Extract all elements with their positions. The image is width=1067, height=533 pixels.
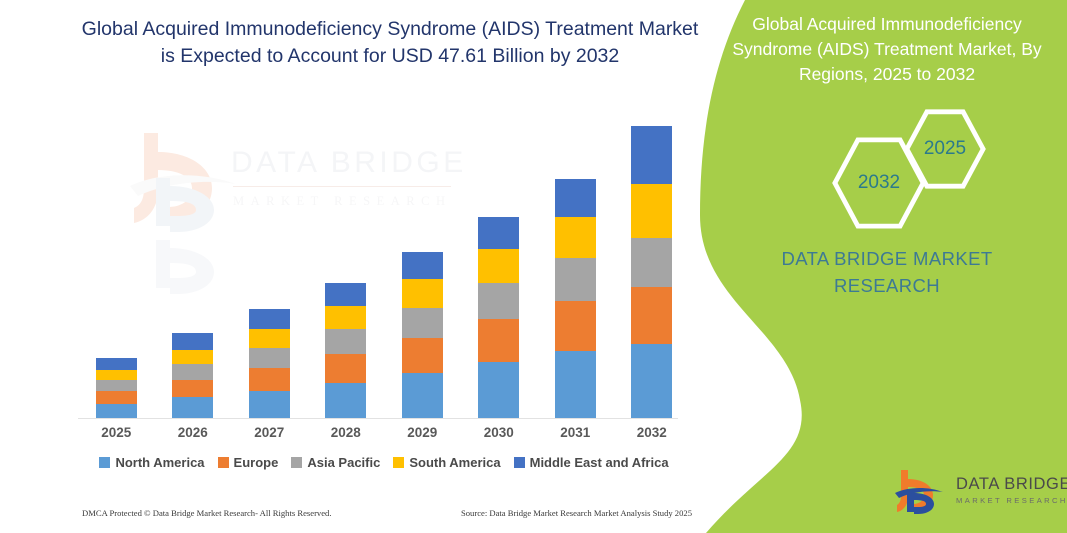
bar-segment	[249, 348, 290, 368]
logo-title: DATA BRIDGE	[956, 475, 1067, 494]
legend-swatch-icon	[99, 457, 110, 468]
legend-item[interactable]: North America	[99, 455, 204, 470]
legend-label: North America	[115, 455, 204, 470]
bar-segment	[402, 308, 443, 338]
bar-segment	[172, 333, 213, 350]
data-bridge-logo-text: DATA BRIDGE MARKET RESEARCH	[956, 475, 1067, 505]
data-bridge-logo: DATA BRIDGE MARKET RESEARCH	[893, 466, 1053, 516]
bar-segment	[96, 358, 137, 370]
bar-column-2031	[555, 179, 596, 418]
hexagon-group: 2032 2025	[817, 108, 1007, 223]
legend-swatch-icon	[514, 457, 525, 468]
bar-segment	[172, 397, 213, 418]
x-axis-label-2031: 2031	[540, 425, 610, 440]
legend-item[interactable]: Europe	[218, 455, 279, 470]
bar-segment	[478, 319, 519, 362]
bar-segment	[631, 287, 672, 344]
bar-column-2030	[478, 217, 519, 418]
bar-segment	[555, 351, 596, 418]
legend-label: Middle East and Africa	[530, 455, 669, 470]
bar-segment	[325, 283, 366, 306]
bar-segment	[249, 329, 290, 348]
bar-segment	[555, 258, 596, 301]
x-axis-label-2025: 2025	[81, 425, 151, 440]
logo-subtitle: MARKET RESEARCH	[956, 496, 1067, 505]
green-panel-content: Global Acquired Immunodeficiency Syndrom…	[707, 0, 1067, 533]
legend-item[interactable]: Asia Pacific	[291, 455, 380, 470]
footer-copyright: DMCA Protected © Data Bridge Market Rese…	[82, 508, 332, 518]
footer: DMCA Protected © Data Bridge Market Rese…	[82, 508, 692, 518]
legend-label: Europe	[234, 455, 279, 470]
bar-column-2032	[631, 126, 672, 418]
x-axis-label-2027: 2027	[234, 425, 304, 440]
x-axis-labels: 20252026202720282029203020312032	[78, 425, 690, 447]
plot-area	[78, 120, 690, 418]
bar-segment	[402, 252, 443, 279]
legend-item[interactable]: South America	[393, 455, 500, 470]
bar-segment	[402, 338, 443, 373]
footer-source: Source: Data Bridge Market Research Mark…	[461, 508, 692, 518]
bar-segment	[402, 373, 443, 418]
legend-swatch-icon	[218, 457, 229, 468]
bar-segment	[325, 306, 366, 329]
bar-segment	[478, 362, 519, 418]
legend-swatch-icon	[291, 457, 302, 468]
bar-segment	[478, 249, 519, 283]
bar-column-2026	[172, 333, 213, 418]
bar-column-2029	[402, 252, 443, 418]
infographic-root: Global Acquired Immunodeficiency Syndrom…	[0, 0, 1067, 533]
page-title: Global Acquired Immunodeficiency Syndrom…	[80, 16, 700, 70]
bar-segment	[555, 217, 596, 257]
bar-segment	[478, 283, 519, 319]
bar-segment	[249, 391, 290, 418]
bar-segment	[555, 179, 596, 217]
hexagon-2025: 2025	[903, 108, 987, 190]
legend-item[interactable]: Middle East and Africa	[514, 455, 669, 470]
bar-segment	[631, 184, 672, 238]
bar-segment	[325, 354, 366, 383]
legend-swatch-icon	[393, 457, 404, 468]
bar-segment	[172, 364, 213, 379]
bar-segment	[631, 238, 672, 287]
bar-segment	[325, 383, 366, 418]
x-axis-label-2029: 2029	[387, 425, 457, 440]
panel-title: Global Acquired Immunodeficiency Syndrom…	[727, 12, 1047, 87]
bar-segment	[96, 391, 137, 403]
bar-segment	[325, 329, 366, 354]
bar-column-2028	[325, 283, 366, 418]
chart-container: DATA BRIDGE MARKET RESEARCH 202520262027…	[78, 120, 690, 425]
bar-segment	[172, 350, 213, 365]
data-bridge-logo-mark-icon	[893, 467, 949, 515]
bar-segment	[249, 368, 290, 391]
bar-segment	[631, 126, 672, 184]
bar-segment	[249, 309, 290, 328]
bar-segment	[631, 344, 672, 418]
x-axis-label-2026: 2026	[158, 425, 228, 440]
chart-legend: North AmericaEuropeAsia PacificSouth Ame…	[78, 455, 690, 470]
bar-segment	[478, 217, 519, 249]
bar-segment	[555, 301, 596, 352]
hexagon-2025-label: 2025	[924, 138, 966, 160]
bar-column-2027	[249, 309, 290, 418]
x-axis-label-2030: 2030	[464, 425, 534, 440]
bar-segment	[172, 380, 213, 398]
legend-label: Asia Pacific	[307, 455, 380, 470]
bar-segment	[96, 380, 137, 391]
bar-segment	[96, 404, 137, 418]
x-axis-label-2032: 2032	[617, 425, 687, 440]
bar-column-2025	[96, 358, 137, 418]
bar-segment	[96, 370, 137, 381]
hexagon-2032-label: 2032	[858, 172, 900, 194]
legend-label: South America	[409, 455, 500, 470]
x-axis-line	[78, 418, 678, 419]
bar-segment	[402, 279, 443, 307]
panel-brand-text: DATA BRIDGE MARKET RESEARCH	[727, 245, 1047, 299]
x-axis-label-2028: 2028	[311, 425, 381, 440]
